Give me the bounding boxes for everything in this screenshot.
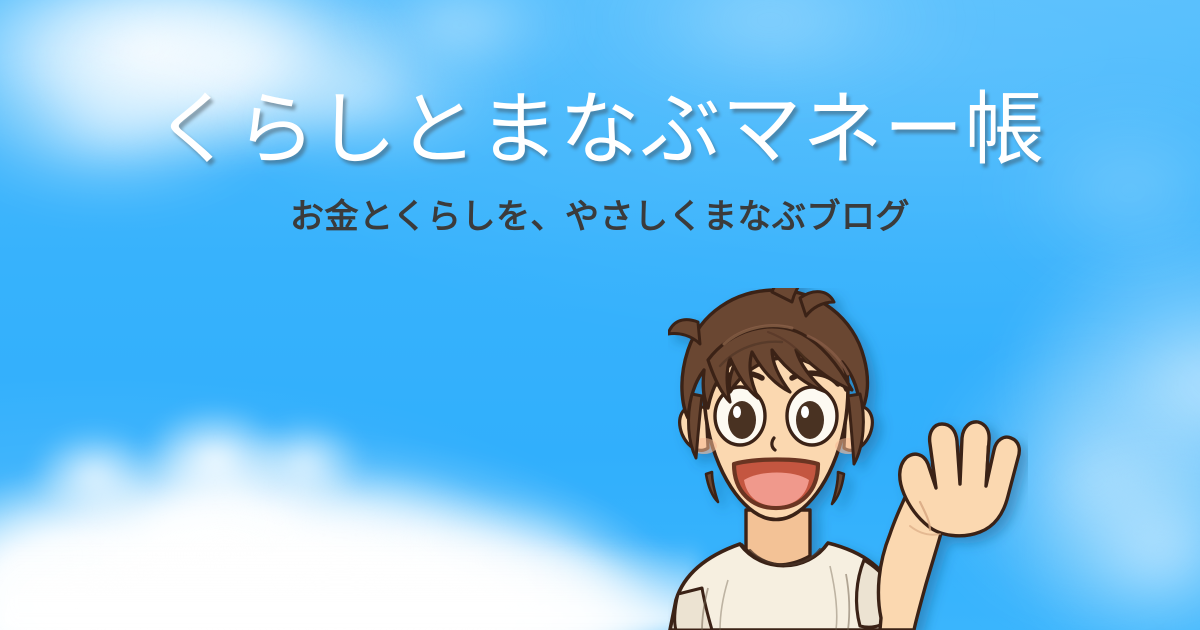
waving-hand bbox=[878, 422, 1019, 630]
banner-text-block: くらしとまなぶマネー帳 お金とくらしを、やさしくまなぶブログ bbox=[0, 88, 1200, 238]
site-tagline: お金とくらしを、やさしくまなぶブログ bbox=[0, 197, 1200, 238]
waving-boy-character bbox=[668, 288, 1028, 630]
site-header-banner: くらしとまなぶマネー帳 お金とくらしを、やさしくまなぶブログ bbox=[0, 0, 1200, 630]
character-torso bbox=[670, 510, 898, 630]
site-title: くらしとまなぶマネー帳 bbox=[0, 88, 1200, 173]
